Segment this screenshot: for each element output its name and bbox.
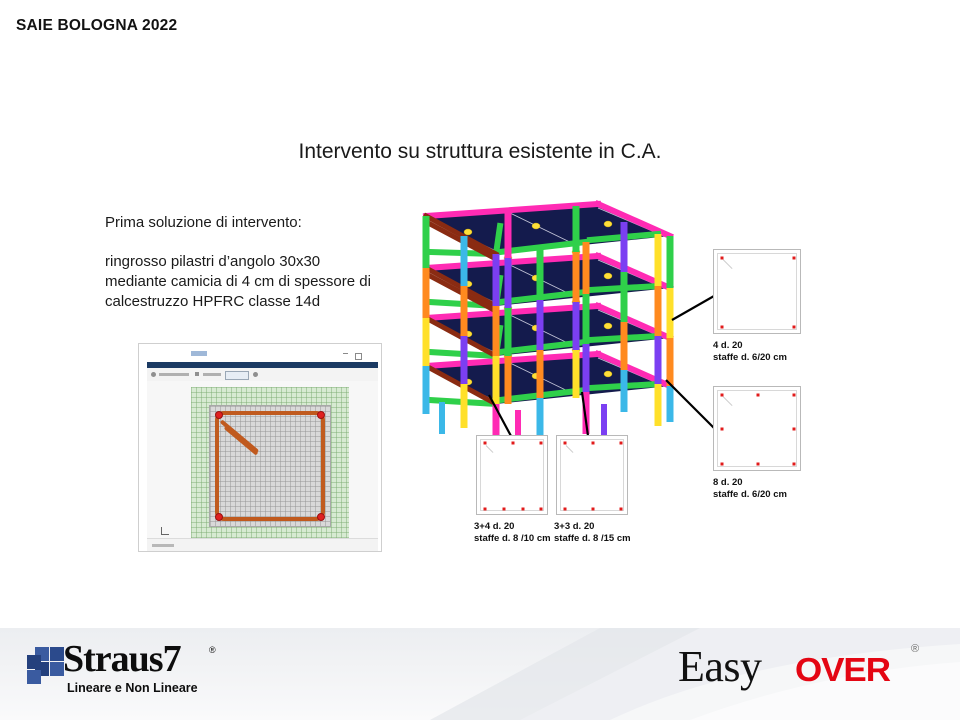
cad-titlebar (147, 348, 378, 363)
rebar-dot (484, 508, 487, 511)
detail-caption-line2: staffe d. 6/20 cm (713, 352, 787, 364)
cad-app-screenshot[interactable] (138, 343, 382, 552)
logo-square (27, 655, 41, 669)
rebar-dot (503, 508, 506, 511)
rebar-dot (540, 442, 543, 445)
rebar-dot (793, 463, 796, 466)
rebar-dot[interactable] (215, 513, 223, 521)
rebar-dot[interactable] (317, 513, 325, 521)
rebar-dot (793, 326, 796, 329)
column-section-box[interactable] (713, 386, 801, 471)
cad-title-text (191, 351, 207, 356)
straus7-grid-icon (27, 647, 61, 681)
detail-caption-line1: 3+3 d. 20 (554, 521, 594, 533)
rebar-dot (484, 442, 487, 445)
column-section-box[interactable] (556, 435, 628, 515)
straus7-registered-mark: ® (209, 645, 216, 655)
rebar-dot (564, 508, 567, 511)
rebar-dot (512, 442, 515, 445)
rebar-dot (793, 394, 796, 397)
cad-toolbar[interactable] (147, 368, 378, 382)
page-title: Intervento su struttura esistente in C.A… (0, 140, 960, 164)
rebar-dot (522, 508, 525, 511)
logo-square (50, 662, 64, 676)
rebar-dot (757, 463, 760, 466)
rebar-dot (540, 508, 543, 511)
rebar-dot (721, 394, 724, 397)
easyover-registered-mark: ® (911, 643, 919, 655)
detail-caption-line1: 4 d. 20 (713, 340, 743, 352)
rebar-dot[interactable] (317, 411, 325, 419)
rebar-dot (793, 257, 796, 260)
rebar-dot (757, 394, 760, 397)
close-icon[interactable] (369, 353, 374, 358)
slide-kicker: SAIE BOLOGNA 2022 (16, 17, 177, 35)
rebar-dot (592, 442, 595, 445)
toolbar-section-label (159, 373, 189, 376)
straus7-logo: Straus7 ® Lineare e Non Lineare (27, 643, 227, 693)
slide: SAIE BOLOGNA 2022 Intervento su struttur… (0, 0, 960, 720)
cad-canvas[interactable] (147, 381, 378, 539)
detail-caption-line2: staffe d. 6/20 cm (713, 489, 787, 501)
detail-column-3p3d20: 3+3 d. 20 staffe d. 8 /15 cm (556, 435, 656, 545)
window-controls[interactable] (343, 353, 374, 360)
rebar-dot (721, 463, 724, 466)
cad-status-text (152, 544, 174, 547)
detail-caption-line1: 3+4 d. 20 (474, 521, 514, 533)
toolbar-shape-label (203, 373, 221, 376)
easyover-easy-wordmark: Easy (678, 641, 762, 692)
logo-square (50, 647, 64, 661)
rebar-dot (620, 442, 623, 445)
intervention-lead-label: Prima soluzione di intervento: (105, 214, 302, 231)
rebar-dot (793, 428, 796, 431)
detail-caption-line1: 8 d. 20 (713, 477, 743, 489)
detail-caption-line2: staffe d. 8 /10 cm (474, 533, 551, 545)
origin-axes-icon (161, 527, 169, 535)
rebar-dot (721, 428, 724, 431)
rebar-dot (620, 508, 623, 511)
column-section-box[interactable] (476, 435, 548, 515)
column-section-box[interactable] (713, 249, 801, 334)
minimize-icon[interactable] (343, 353, 348, 354)
detail-caption-line2: staffe d. 8 /15 cm (554, 533, 631, 545)
rebar-dot (721, 326, 724, 329)
rebar-dot[interactable] (215, 411, 223, 419)
rebar-dot (721, 257, 724, 260)
detail-column-4d20: 4 d. 20 staffe d. 6/20 cm (713, 249, 809, 359)
straus7-tagline: Lineare e Non Lineare (67, 681, 198, 695)
toolbar-dropdown[interactable] (225, 371, 249, 380)
cad-statusbar (147, 538, 378, 551)
straus7-wordmark: Straus7 (63, 637, 181, 681)
detail-column-8d20: 8 d. 20 staffe d. 6/20 cm (713, 386, 809, 496)
toolbar-section-icon[interactable] (151, 372, 156, 377)
structural-model-3d (408, 196, 688, 446)
intervention-description: ringrosso pilastri d’angolo 30x30 median… (105, 252, 375, 312)
logo-square (27, 670, 41, 684)
toolbar-shape-icon[interactable] (195, 372, 199, 376)
rebar-dot (564, 442, 567, 445)
easyover-over-wordmark: OVER (795, 651, 890, 689)
rebar-dot (592, 508, 595, 511)
easyover-logo: Easy OVER ® (678, 645, 928, 693)
maximize-icon[interactable] (355, 353, 362, 360)
toolbar-settings-icon[interactable] (253, 372, 258, 377)
